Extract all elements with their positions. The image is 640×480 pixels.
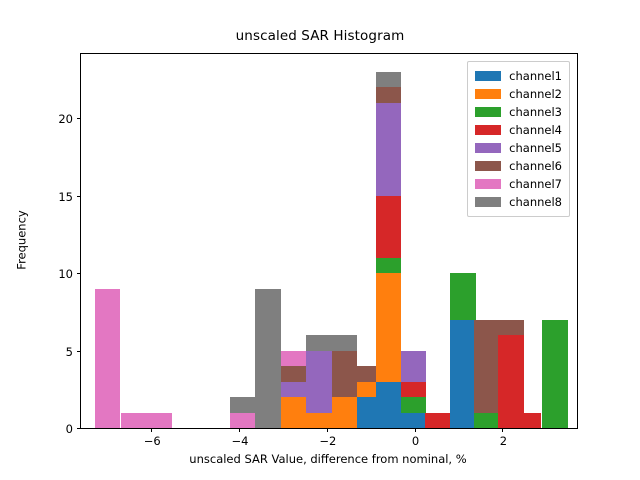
bar-segment-channel8 — [230, 397, 255, 412]
legend-item-channel2[interactable]: channel2 — [475, 85, 562, 103]
bar-segment-channel8 — [332, 335, 357, 350]
histogram-bar — [95, 289, 120, 428]
legend-item-label: channel3 — [509, 105, 562, 119]
page-title: unscaled SAR Histogram — [0, 28, 640, 44]
bar-segment-channel4 — [425, 413, 450, 428]
x-axis-tick: 0 — [415, 428, 416, 432]
x-axis-tick-label: −6 — [144, 434, 161, 448]
legend-swatch-icon — [475, 125, 501, 135]
bar-segment-channel7 — [230, 413, 255, 428]
histogram-bar — [542, 320, 567, 428]
legend-item-channel7[interactable]: channel7 — [475, 175, 562, 193]
histogram-bar — [401, 351, 426, 428]
legend-item-label: channel7 — [509, 177, 562, 191]
x-axis-tick: −6 — [151, 428, 152, 432]
bar-segment-channel1 — [376, 382, 401, 428]
bar-segment-channel1 — [450, 320, 475, 428]
bar-segment-channel3 — [450, 273, 475, 319]
legend-item-label: channel6 — [509, 159, 562, 173]
bar-segment-channel4 — [516, 413, 541, 428]
x-axis-tick-label: −2 — [319, 434, 336, 448]
legend: channel1channel2channel3channel4channel5… — [467, 61, 570, 217]
bar-segment-channel2 — [376, 273, 401, 381]
histogram-bar — [255, 289, 280, 428]
y-axis-tick-label: 5 — [66, 345, 73, 359]
y-axis-tick: 10 — [77, 273, 81, 274]
legend-swatch-icon — [475, 179, 501, 189]
histogram-bar — [332, 335, 357, 428]
bar-segment-channel8 — [306, 335, 331, 350]
y-axis-tick: 0 — [77, 428, 81, 429]
legend-swatch-icon — [475, 107, 501, 117]
legend-swatch-icon — [475, 71, 501, 81]
bar-segment-channel6 — [474, 320, 499, 413]
bar-segment-channel4 — [401, 382, 426, 397]
legend-item-label: channel5 — [509, 141, 562, 155]
bar-segment-channel8 — [255, 289, 280, 428]
y-axis-tick-label: 20 — [58, 112, 73, 126]
bar-segment-channel6 — [332, 351, 357, 397]
bar-segment-channel7 — [281, 351, 306, 366]
histogram-bar — [376, 72, 401, 428]
bar-segment-channel3 — [376, 258, 401, 273]
legend-item-channel6[interactable]: channel6 — [475, 157, 562, 175]
x-axis-label: unscaled SAR Value, difference from nomi… — [80, 452, 576, 466]
x-axis-tick: −4 — [239, 428, 240, 432]
y-axis-tick-label: 10 — [58, 267, 73, 281]
bar-segment-channel6 — [376, 87, 401, 102]
x-axis-tick-label: 2 — [500, 434, 507, 448]
histogram-bar — [474, 320, 499, 428]
legend-item-channel8[interactable]: channel8 — [475, 193, 562, 211]
legend-item-label: channel1 — [509, 69, 562, 83]
histogram-bar — [516, 413, 541, 428]
bar-segment-channel3 — [474, 413, 499, 428]
y-axis-label-text: Frequency — [15, 210, 29, 269]
legend-swatch-icon — [475, 89, 501, 99]
legend-item-channel1[interactable]: channel1 — [475, 67, 562, 85]
histogram-bar — [146, 413, 171, 428]
legend-swatch-icon — [475, 197, 501, 207]
y-axis-tick: 20 — [77, 118, 81, 119]
y-axis-tick-label: 0 — [66, 422, 73, 436]
bar-segment-channel5 — [281, 382, 306, 397]
legend-item-label: channel2 — [509, 87, 562, 101]
x-axis-tick: 2 — [502, 428, 503, 432]
legend-item-channel3[interactable]: channel3 — [475, 103, 562, 121]
bar-segment-channel2 — [306, 413, 331, 428]
bar-segment-channel2 — [281, 397, 306, 428]
legend-item-label: channel8 — [509, 195, 562, 209]
bar-segment-channel3 — [401, 397, 426, 412]
bar-segment-channel2 — [332, 397, 357, 428]
x-axis-tick: −2 — [327, 428, 328, 432]
bar-segment-channel7 — [146, 413, 171, 428]
bar-segment-channel7 — [95, 289, 120, 428]
legend-swatch-icon — [475, 143, 501, 153]
bar-segment-channel7 — [121, 413, 146, 428]
y-axis-tick: 5 — [77, 351, 81, 352]
y-axis-tick: 15 — [77, 196, 81, 197]
figure-canvas: unscaled SAR Histogram Frequency 0510152… — [0, 0, 640, 480]
x-axis-tick-label: −4 — [232, 434, 249, 448]
bar-segment-channel5 — [376, 103, 401, 196]
plot-axes: 05101520−6−4−202 channel1channel2channel… — [80, 53, 578, 429]
legend-item-label: channel4 — [509, 123, 562, 137]
y-axis-tick-label: 15 — [58, 190, 73, 204]
histogram-bar — [121, 413, 146, 428]
bar-segment-channel6 — [498, 320, 523, 335]
bar-segment-channel5 — [401, 351, 426, 382]
bar-segment-channel3 — [542, 320, 567, 428]
legend-item-channel4[interactable]: channel4 — [475, 121, 562, 139]
bar-segment-channel5 — [306, 351, 331, 413]
x-axis-tick-label: 0 — [412, 434, 419, 448]
legend-item-channel5[interactable]: channel5 — [475, 139, 562, 157]
bar-segment-channel4 — [376, 196, 401, 258]
legend-swatch-icon — [475, 161, 501, 171]
bar-segment-channel1 — [401, 413, 426, 428]
y-axis-label: Frequency — [14, 53, 30, 427]
histogram-bar — [230, 397, 255, 428]
histogram-bar — [450, 273, 475, 428]
bar-segment-channel6 — [281, 366, 306, 381]
bar-segment-channel8 — [376, 72, 401, 87]
histogram-bar — [425, 413, 450, 428]
histogram-bar — [281, 351, 306, 428]
histogram-bar — [306, 335, 331, 428]
